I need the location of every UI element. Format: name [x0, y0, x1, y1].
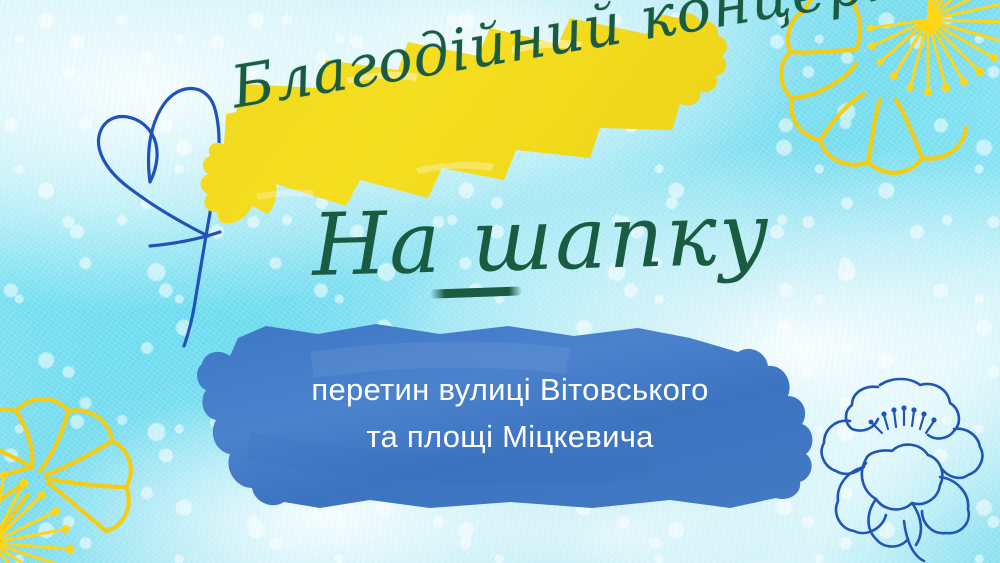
event-kicker: Благодійний концерт	[226, 0, 924, 122]
underline-flourish-icon	[430, 286, 522, 298]
poppy-outline-yellow-icon	[0, 363, 180, 563]
poster-canvas: Благодійний концерт На шапку перетин вул…	[0, 0, 1000, 563]
watercolor-grain-texture	[0, 0, 1000, 563]
peony-outline-blue-icon	[814, 371, 994, 561]
yellow-brush-stroke	[160, 8, 770, 223]
venue-line-1: перетин вулиці Вітовського	[190, 366, 830, 413]
venue-line-2: та площі Міцкевича	[190, 413, 830, 460]
page-title: На шапку	[311, 184, 772, 296]
venue-address: перетин вулиці Вітовського та площі Міцк…	[190, 366, 830, 460]
poppy-outline-yellow-icon	[768, 0, 1000, 204]
blue-brush-stroke	[190, 312, 830, 512]
heart-doodle-icon	[88, 86, 278, 346]
watercolor-background	[0, 0, 1000, 563]
watercolor-mottle-texture	[0, 0, 1000, 563]
